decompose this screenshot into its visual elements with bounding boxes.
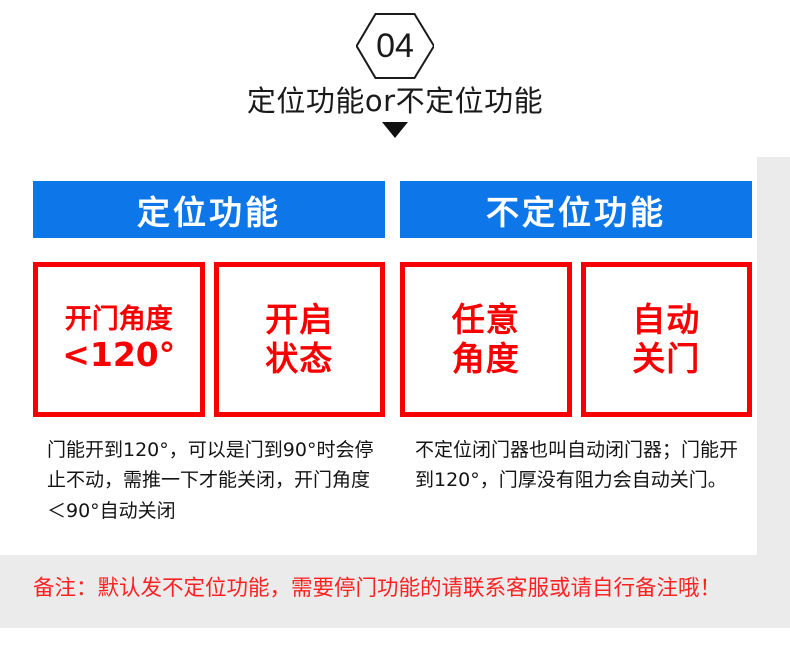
feature-box-line1: 自动	[632, 301, 700, 340]
feature-box-line2: 关门	[632, 340, 700, 379]
step-badge: 04	[0, 12, 790, 85]
feature-box: 任意 角度	[400, 262, 572, 417]
page-title: 定位功能or不定位功能	[0, 78, 790, 120]
feature-box-line2: <120°	[62, 336, 175, 375]
comparison-card: 定位功能 开门角度 <120° 开启 状态 门能开到120°，可以是门到90°时…	[0, 157, 757, 555]
feature-box: 开门角度 <120°	[33, 262, 205, 417]
feature-box-line1: 任意	[452, 301, 520, 340]
panels-row: 定位功能 开门角度 <120° 开启 状态 门能开到120°，可以是门到90°时…	[33, 181, 757, 526]
hexagon-badge: 04	[356, 12, 434, 80]
feature-box-line1: 开门角度	[65, 304, 173, 336]
feature-box-line2: 状态	[265, 340, 333, 379]
panel-positioning: 定位功能 开门角度 <120° 开启 状态 门能开到120°，可以是门到90°时…	[33, 181, 385, 526]
bottom-spacer	[0, 628, 790, 652]
feature-box-line1: 开启	[265, 301, 333, 340]
panel-non-positioning: 不定位功能 任意 角度 自动 关门 不定位闭门器也叫自动闭门器；门能开到120°…	[400, 181, 752, 526]
step-number: 04	[356, 12, 434, 80]
feature-boxes-positioning: 开门角度 <120° 开启 状态	[33, 262, 385, 417]
panel-description-non-positioning: 不定位闭门器也叫自动闭门器；门能开到120°，门厚没有阻力会自动关门。	[400, 435, 752, 496]
panel-header-non-positioning: 不定位功能	[400, 181, 752, 238]
content-band: 定位功能 开门角度 <120° 开启 状态 门能开到120°，可以是门到90°时…	[0, 157, 790, 628]
down-triangle-icon	[382, 122, 408, 138]
panel-header-positioning: 定位功能	[33, 181, 385, 238]
feature-boxes-non-positioning: 任意 角度 自动 关门	[400, 262, 752, 417]
header-section: 04 定位功能or不定位功能	[0, 0, 790, 157]
feature-box: 开启 状态	[214, 262, 386, 417]
footnote-remark: 备注：默认发不定位功能，需要停门功能的请联系客服或请自行备注哦！	[33, 571, 773, 602]
feature-box: 自动 关门	[581, 262, 753, 417]
feature-box-line2: 角度	[452, 340, 520, 379]
panel-description-positioning: 门能开到120°，可以是门到90°时会停止不动，需推一下才能关闭，开门角度＜90…	[33, 435, 385, 526]
